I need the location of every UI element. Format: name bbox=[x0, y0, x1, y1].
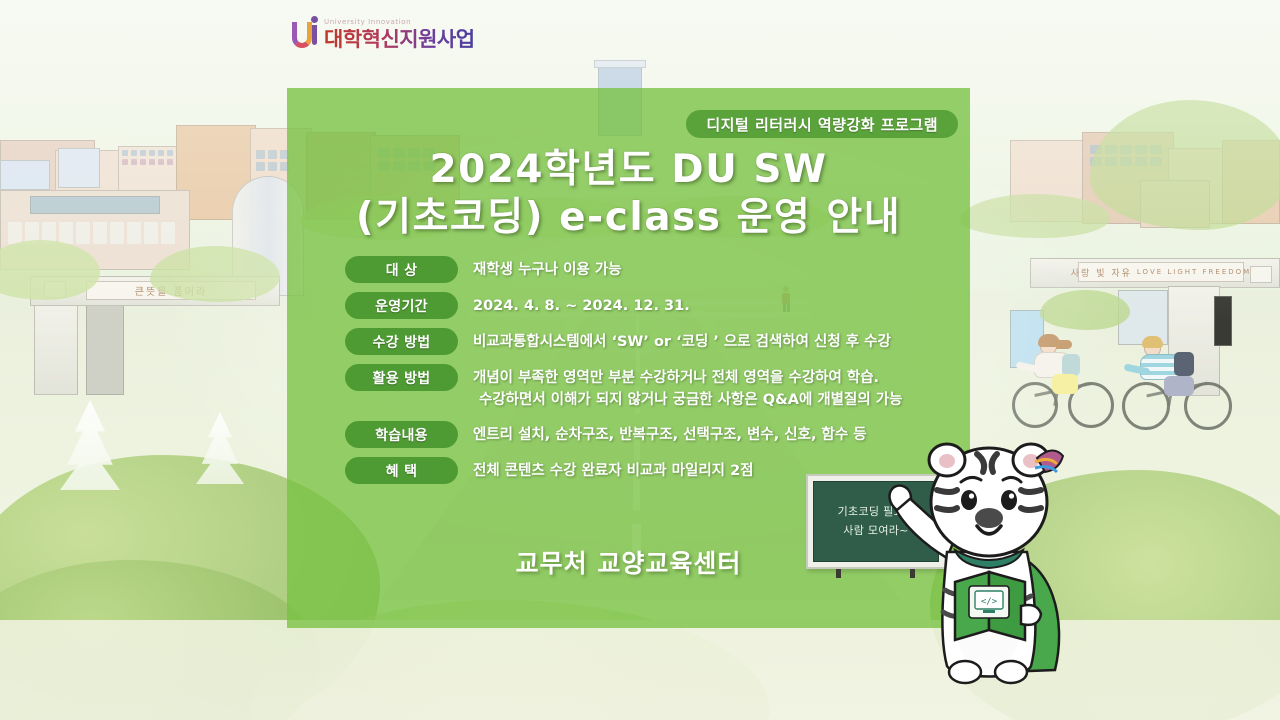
logo-text: University Innovation 대학혁신지원사업 bbox=[324, 19, 475, 50]
cyclist-hair bbox=[1142, 336, 1163, 348]
info-row: 활용 방법 개념이 부족한 영역만 부분 수강하거나 전체 영역을 수강하여 학… bbox=[345, 364, 945, 411]
poster-canvas: 큰뜻을 품어라 사랑 빛 자유 LOVE LIGHT FREEDOM bbox=[0, 0, 1280, 720]
tiger-mascot-icon: </> bbox=[885, 440, 1095, 685]
info-row-value: 엔트리 설치, 순차구조, 반복구조, 선택구조, 변수, 신호, 함수 등 bbox=[458, 421, 945, 446]
cyclist-figure bbox=[1122, 330, 1252, 442]
poster-title-line2: (기초코딩) e-class 운영 안내 bbox=[287, 194, 970, 242]
info-row-value-line1: 개념이 부족한 영역만 부분 수강하거나 전체 영역을 수강하여 학습. bbox=[473, 370, 879, 386]
info-row-value: 개념이 부족한 영역만 부분 수강하거나 전체 영역을 수강하여 학습. 수강하… bbox=[458, 364, 945, 411]
logo-dot bbox=[311, 16, 318, 23]
logo-english-text: University Innovation bbox=[324, 19, 475, 26]
info-row-value-line1: 비교과통합시스템에서 ‘SW’ or ‘코딩 ’ 으로 검색하여 신청 후 수강 bbox=[473, 334, 891, 350]
poster-title-line1: 2024학년도 DU SW bbox=[287, 146, 970, 194]
info-row-label: 학습내용 bbox=[345, 421, 458, 448]
info-rows: 대 상 재학생 누구나 이용 가능 운영기간 2024. 4. 8. ~ 202… bbox=[345, 256, 945, 493]
info-row-value: 재학생 누구나 이용 가능 bbox=[458, 256, 945, 281]
info-row-value: 2024. 4. 8. ~ 2024. 12. 31. bbox=[458, 292, 945, 317]
building-block bbox=[58, 148, 100, 188]
cyclist-backpack bbox=[1174, 352, 1194, 376]
info-row-value-line1: 재학생 누구나 이용 가능 bbox=[473, 262, 622, 278]
poster-title: 2024학년도 DU SW (기초코딩) e-class 운영 안내 bbox=[287, 146, 970, 241]
info-row: 운영기간 2024. 4. 8. ~ 2024. 12. 31. bbox=[345, 292, 945, 319]
info-row: 수강 방법 비교과통합시스템에서 ‘SW’ or ‘코딩 ’ 으로 검색하여 신… bbox=[345, 328, 945, 355]
cyclist-ponytail bbox=[1056, 340, 1072, 349]
logo-u-shape bbox=[292, 22, 312, 48]
info-row-label: 운영기간 bbox=[345, 292, 458, 319]
building-long-band bbox=[30, 196, 160, 214]
gate-left-pillar bbox=[86, 296, 124, 395]
building-block bbox=[0, 160, 50, 190]
gate-right-sign-korean: 사랑 빛 자유 bbox=[1071, 266, 1132, 279]
tiger-mascot: </> bbox=[885, 440, 1095, 685]
gate-right-emblem bbox=[1250, 266, 1272, 283]
info-row-value: 비교과통합시스템에서 ‘SW’ or ‘코딩 ’ 으로 검색하여 신청 후 수강 bbox=[458, 328, 945, 353]
window-grid bbox=[122, 150, 173, 165]
info-row-value-line1: 엔트리 설치, 순차구조, 반복구조, 선택구조, 변수, 신호, 함수 등 bbox=[473, 427, 867, 443]
bush bbox=[150, 246, 280, 302]
window-grid bbox=[256, 150, 289, 171]
cyclist-backpack bbox=[1062, 354, 1080, 376]
program-badge-label: 디지털 리터러시 역량강화 프로그램 bbox=[706, 114, 938, 135]
info-row-label: 대 상 bbox=[345, 256, 458, 283]
svg-text:</>: </> bbox=[981, 597, 998, 607]
gate-right-sign-english: LOVE LIGHT FREEDOM bbox=[1137, 268, 1251, 276]
bicycle-wheel bbox=[1122, 382, 1170, 430]
building-tower-roof bbox=[594, 60, 646, 68]
program-badge: 디지털 리터러시 역량강화 프로그램 bbox=[686, 110, 958, 138]
info-row-label: 수강 방법 bbox=[345, 328, 458, 355]
cyclist-figure bbox=[1012, 330, 1132, 440]
cyclist-legs bbox=[1052, 374, 1078, 394]
logo-korean-text: 대학혁신지원사업 bbox=[324, 29, 475, 50]
info-row: 대 상 재학생 누구나 이용 가능 bbox=[345, 256, 945, 283]
gate-right-sign: 사랑 빛 자유 LOVE LIGHT FREEDOM bbox=[1078, 262, 1244, 282]
info-row-label: 활용 방법 bbox=[345, 364, 458, 391]
uj-logo-mark-icon bbox=[292, 16, 318, 50]
info-row-value-line1: 전체 콘텐츠 수강 완료자 비교과 마일리지 2점 bbox=[473, 463, 754, 479]
bush bbox=[960, 194, 1110, 238]
info-row: 학습내용 엔트리 설치, 순차구조, 반복구조, 선택구조, 변수, 신호, 함… bbox=[345, 421, 945, 448]
cyclist-legs bbox=[1164, 376, 1194, 396]
info-row-label: 혜 택 bbox=[345, 457, 458, 484]
info-row-value-line1: 2024. 4. 8. ~ 2024. 12. 31. bbox=[473, 298, 690, 314]
info-row-value-line2: 수강하면서 이해가 되지 않거나 궁금한 사항은 Q&A에 개별질의 가능 bbox=[473, 389, 945, 411]
bush bbox=[1040, 290, 1130, 330]
university-innovation-logo: University Innovation 대학혁신지원사업 bbox=[292, 16, 475, 50]
gate-left-pillar bbox=[34, 300, 78, 395]
logo-j-stem bbox=[312, 25, 317, 45]
